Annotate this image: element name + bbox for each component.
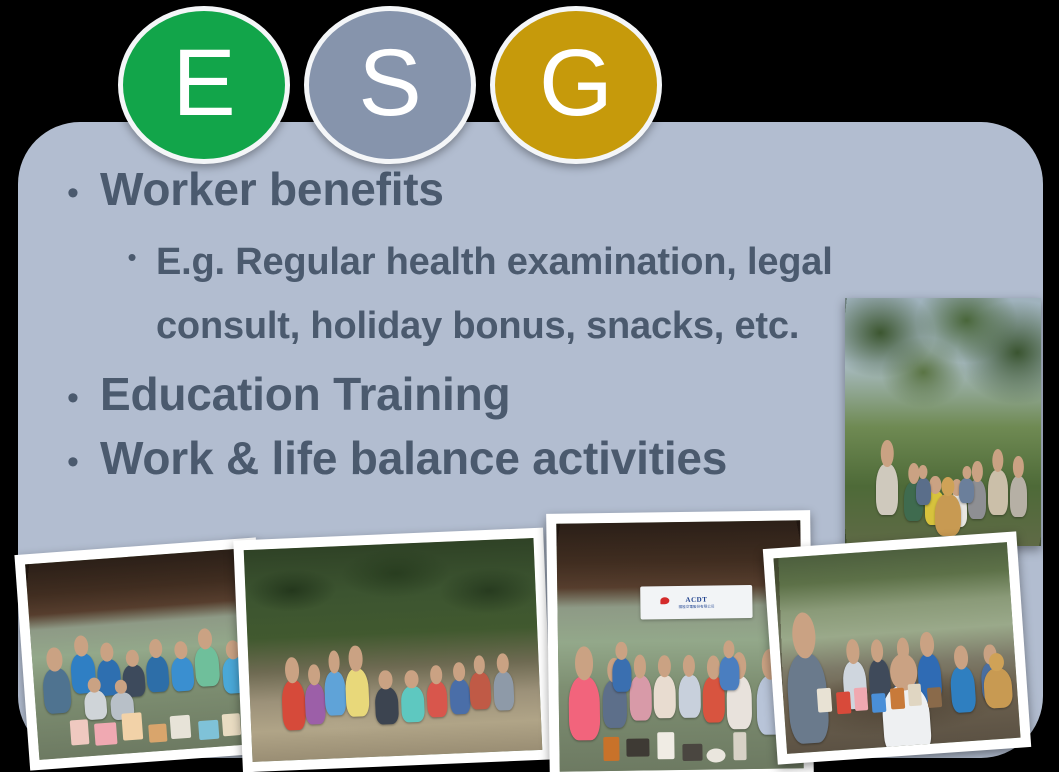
bullet-marker: • [46, 160, 100, 210]
bullet-text: Education Training [100, 365, 510, 425]
bullet-item-worker-benefits: • Worker benefits [46, 160, 886, 220]
bullet-marker: • [108, 230, 156, 270]
esg-badge-letter-e: E [172, 36, 235, 131]
photo-picnic-table-serving [763, 531, 1031, 764]
esg-badge-social: S [304, 6, 476, 164]
bullet-marker: • [46, 365, 100, 415]
bullet-text: E.g. Regular health examination, legal c… [156, 230, 876, 359]
esg-slide: E S G • Worker benefits • E.g. Regular h… [0, 0, 1059, 772]
bullet-marker: • [46, 429, 100, 479]
banner-main-text: ACDT [685, 595, 707, 603]
photo-forest-group-with-dog [845, 298, 1041, 546]
esg-badge-letter-g: G [539, 36, 613, 131]
photo-pavilion-gathering-blue-shirts [14, 537, 271, 770]
bullet-text: Work & life balance activities [100, 429, 727, 489]
dog [935, 494, 960, 536]
bullet-item-examples: • E.g. Regular health examination, legal… [108, 230, 886, 359]
people-group [557, 605, 803, 722]
table-items [588, 709, 779, 766]
people-group [247, 627, 541, 732]
photo-riverbed-hiking-group [233, 528, 552, 772]
esg-badge-governance: G [490, 6, 662, 164]
bullet-item-work-life-balance: • Work & life balance activities [46, 429, 886, 489]
esg-badge-letter-s: S [358, 36, 421, 131]
esg-badge-row: E S G [118, 6, 662, 164]
company-logo-icon [660, 598, 669, 605]
bullet-text: Worker benefits [100, 160, 444, 220]
bullet-list: • Worker benefits • E.g. Regular health … [46, 160, 886, 493]
bullet-item-education-training: • Education Training [46, 365, 886, 425]
esg-badge-environmental: E [118, 6, 290, 164]
